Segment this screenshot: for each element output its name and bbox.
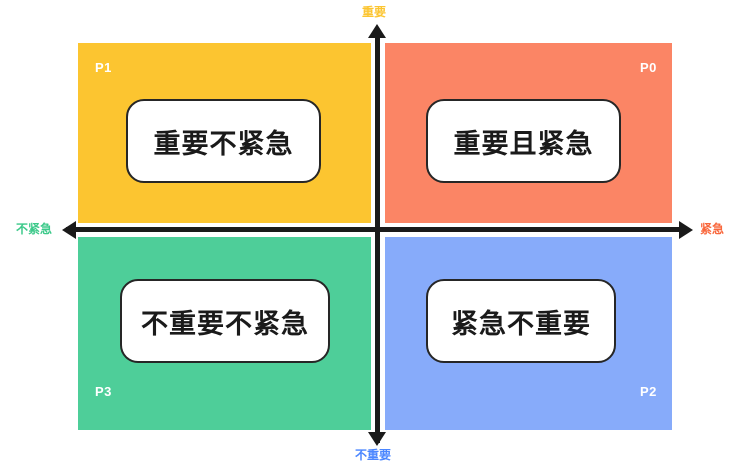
axis-label-not-important: 不重要: [355, 449, 391, 461]
vertical-axis-line: [375, 33, 380, 443]
arrow-right-icon: [679, 221, 693, 239]
quadrant-tag-p0: P0: [640, 61, 657, 74]
axis-label-urgent: 紧急: [700, 223, 724, 235]
priority-matrix-diagram: P1 P0 P3 P2 重要不紧急 重要且紧急 不重要不紧急 紧急不重要 重要 …: [0, 0, 734, 470]
axis-label-important: 重要: [362, 6, 386, 18]
quadrant-tag-p1: P1: [95, 61, 112, 74]
quadrant-card-p2[interactable]: 紧急不重要: [426, 279, 616, 363]
quadrant-tag-p3: P3: [95, 385, 112, 398]
arrow-left-icon: [62, 221, 76, 239]
arrow-down-icon: [368, 432, 386, 446]
horizontal-axis-line: [66, 227, 679, 232]
axis-label-not-urgent: 不紧急: [16, 223, 52, 235]
arrow-up-icon: [368, 24, 386, 38]
quadrant-card-p0[interactable]: 重要且紧急: [426, 99, 621, 183]
quadrant-card-p1[interactable]: 重要不紧急: [126, 99, 321, 183]
quadrant-tag-p2: P2: [640, 385, 657, 398]
quadrant-card-p3[interactable]: 不重要不紧急: [120, 279, 330, 363]
